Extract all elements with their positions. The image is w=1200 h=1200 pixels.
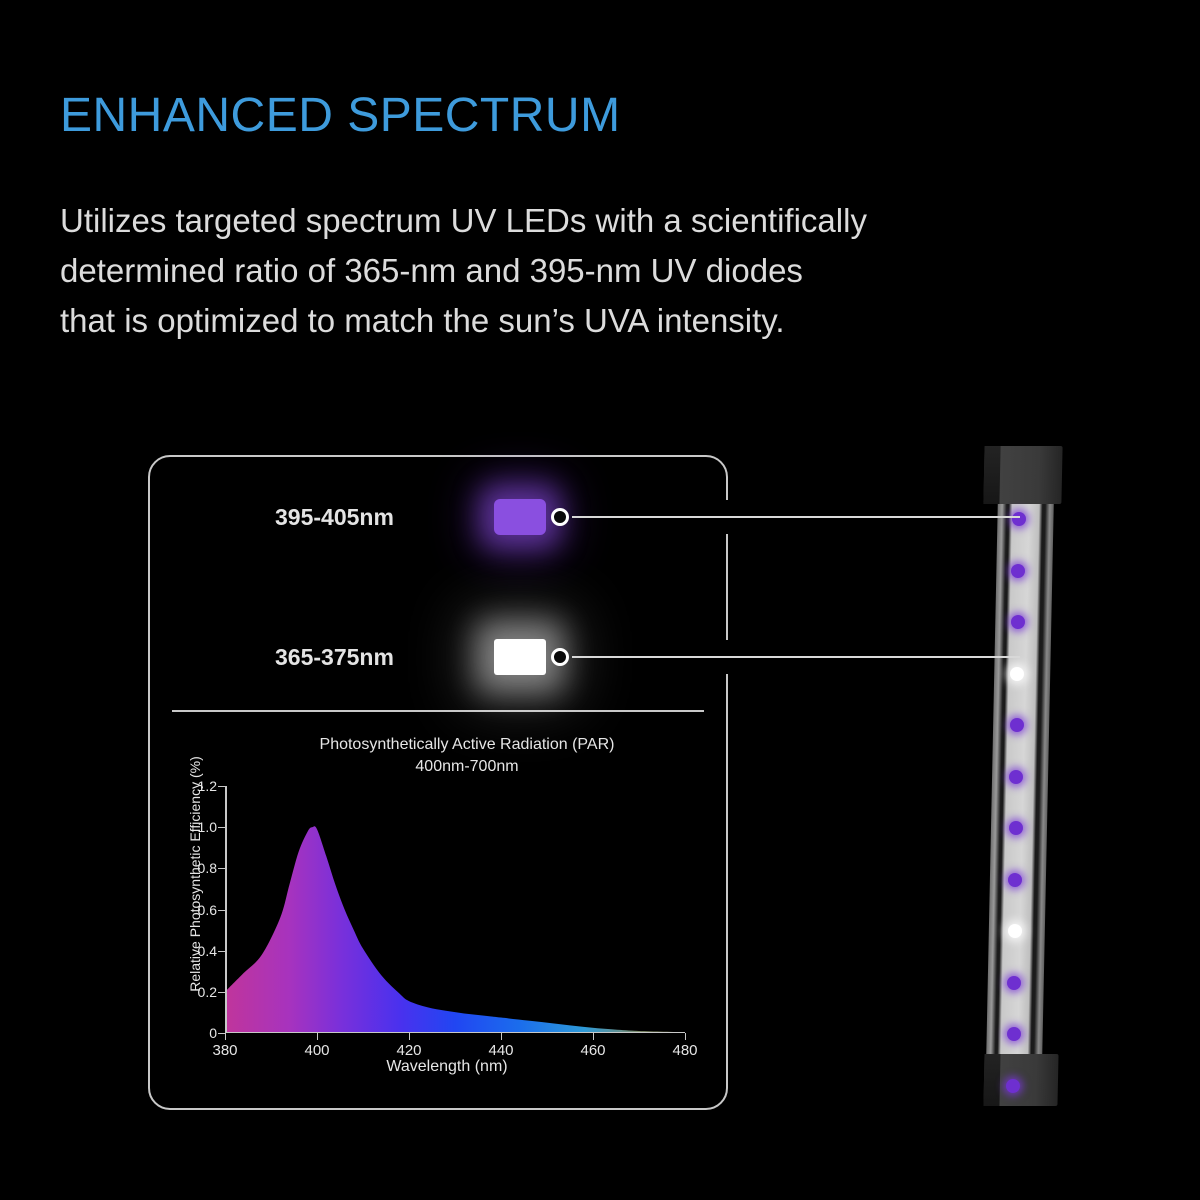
chart-y-tick-label: 0.6: [198, 902, 217, 918]
chart-y-tick-label: 1.0: [198, 819, 217, 835]
led-diode-purple: [1009, 821, 1023, 835]
chart-y-tick-mark: [218, 1033, 225, 1034]
chart-y-tick-mark: [218, 827, 225, 828]
connector-dot-395-405nm: [551, 508, 569, 526]
white-led-swatch: [494, 639, 546, 675]
chart-x-tick-mark: [501, 1033, 502, 1040]
led-diode-purple: [1011, 615, 1025, 629]
chart-title-sub: 400nm-700nm: [415, 758, 518, 775]
led-diode-purple: [1006, 1079, 1020, 1093]
par-chart: Photosynthetically Active Radiation (PAR…: [172, 728, 712, 1093]
led-bar-cap-top-face: [983, 446, 1000, 504]
connector-line-395-405nm: [572, 516, 1020, 518]
chart-y-tick-mark: [218, 786, 225, 787]
purple-led-swatch: [494, 499, 546, 535]
led-diode-purple: [1010, 718, 1024, 732]
chart-y-tick-label: 1.2: [198, 778, 217, 794]
legend-label-365-375nm: 365-375nm: [275, 644, 465, 671]
led-diode-white: [1010, 667, 1024, 681]
legend-row-365-375nm: 365-375nm: [275, 634, 575, 680]
chart-y-tick-label: 0.2: [198, 984, 217, 1000]
description-line-1: Utilizes targeted spectrum UV LEDs with …: [60, 196, 1120, 246]
led-diode-purple: [1012, 512, 1026, 526]
chart-x-axis: [225, 1032, 685, 1034]
chart-x-tick-label: 480: [672, 1042, 697, 1059]
chart-y-tick-label: 0: [209, 1025, 217, 1041]
led-diode-white: [1008, 924, 1022, 938]
led-bar-cap-top: [983, 446, 1062, 504]
chart-plot-area: 00.20.40.60.81.01.2 380400420440460480: [225, 786, 685, 1033]
chart-y-axis: [225, 786, 227, 1033]
connector-line-365-375nm: [572, 656, 1020, 658]
chart-title: Photosynthetically Active Radiation (PAR…: [232, 734, 702, 778]
chart-y-tick-label: 0.8: [198, 860, 217, 876]
chart-x-tick-mark: [225, 1033, 226, 1040]
section-divider: [172, 710, 704, 712]
chart-x-tick-mark: [409, 1033, 410, 1040]
chart-y-tick-mark: [218, 992, 225, 993]
chart-x-tick-mark: [317, 1033, 318, 1040]
legend-label-395-405nm: 395-405nm: [275, 504, 465, 531]
chart-x-axis-label: Wavelength (nm): [212, 1058, 682, 1076]
chart-y-tick-mark: [218, 868, 225, 869]
led-diode-purple: [1007, 976, 1021, 990]
chart-y-tick-mark: [218, 951, 225, 952]
connector-dot-365-375nm: [551, 648, 569, 666]
led-diode-purple: [1007, 1027, 1021, 1041]
chart-x-tick-label: 420: [396, 1042, 421, 1059]
chart-x-tick-label: 440: [488, 1042, 513, 1059]
page-description: Utilizes targeted spectrum UV LEDs with …: [60, 196, 1120, 346]
par-curve: [225, 786, 685, 1033]
description-line-3: that is optimized to match the sun’s UVA…: [60, 296, 1120, 346]
enhanced-spectrum-slide: ENHANCED SPECTRUM Utilizes targeted spec…: [0, 0, 1200, 1200]
chart-x-tick-label: 460: [580, 1042, 605, 1059]
page-title: ENHANCED SPECTRUM: [60, 88, 621, 143]
description-line-2: determined ratio of 365-nm and 395-nm UV…: [60, 246, 1120, 296]
chart-y-tick-label: 0.4: [198, 943, 217, 959]
led-diode-purple: [1011, 564, 1025, 578]
chart-y-tick-mark: [218, 910, 225, 911]
led-bar-cap-bottom-face: [983, 1054, 1000, 1106]
led-diode-purple: [1008, 873, 1022, 887]
chart-x-tick-label: 400: [304, 1042, 329, 1059]
uv-led-bar: [978, 446, 1074, 1114]
led-diode-purple: [1009, 770, 1023, 784]
chart-x-tick-mark: [593, 1033, 594, 1040]
legend-row-395-405nm: 395-405nm: [275, 494, 575, 540]
chart-x-tick-mark: [685, 1033, 686, 1040]
chart-x-tick-label: 380: [212, 1042, 237, 1059]
chart-title-main: Photosynthetically Active Radiation (PAR…: [320, 736, 615, 753]
led-bar-cap-bottom: [983, 1054, 1058, 1106]
